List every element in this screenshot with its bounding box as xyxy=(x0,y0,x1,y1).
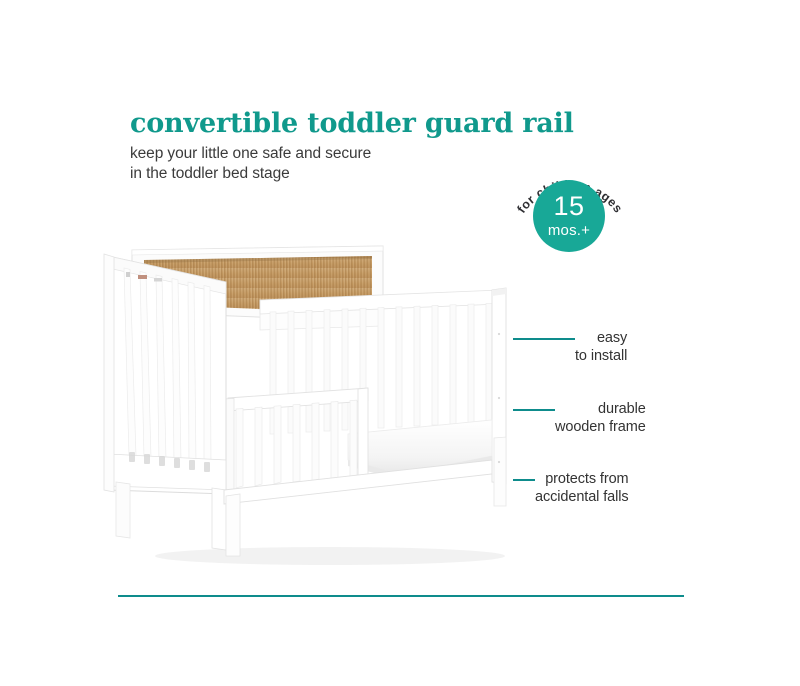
page-subtitle: keep your little one safe and secure in … xyxy=(130,144,371,184)
crib-front-center-leg xyxy=(226,494,240,556)
age-badge-circle: 15 mos.+ xyxy=(533,180,605,252)
feature-callout-easy-to-install: easy to install xyxy=(513,329,627,365)
callout-line-1: protects from xyxy=(535,470,629,488)
feature-callout-protects-from-falls: protects from accidental falls xyxy=(513,470,629,506)
feature-callout-durable-wooden-frame: durable wooden frame xyxy=(513,400,646,436)
crib-right-end-panel xyxy=(492,288,506,506)
callout-leader-line xyxy=(513,479,535,481)
crib-left-end-panel xyxy=(104,254,226,550)
product-marketing-image: convertible toddler guard rail keep your… xyxy=(0,0,800,686)
page-title: convertible toddler guard rail xyxy=(130,108,574,139)
callout-line-2: accidental falls xyxy=(535,488,629,506)
callout-line-1: easy xyxy=(575,329,627,347)
callout-text: durable wooden frame xyxy=(555,400,646,436)
crib-ground-shadow xyxy=(155,547,505,565)
callout-line-1: durable xyxy=(555,400,646,418)
bottom-divider xyxy=(118,595,684,597)
callout-line-2: wooden frame xyxy=(555,418,646,436)
callout-text: protects from accidental falls xyxy=(535,470,629,506)
callout-leader-line xyxy=(513,409,555,411)
product-illustration-crib xyxy=(100,238,540,578)
crib-drawing xyxy=(100,238,540,578)
page-subtitle-line-2: in the toddler bed stage xyxy=(130,164,371,184)
age-badge-unit: mos.+ xyxy=(548,223,590,238)
page-subtitle-line-1: keep your little one safe and secure xyxy=(130,144,371,164)
age-badge-number: 15 xyxy=(553,193,584,220)
callout-leader-line xyxy=(513,338,575,340)
callout-text: easy to install xyxy=(575,329,627,365)
guard-rail-slats xyxy=(236,400,357,488)
callout-line-2: to install xyxy=(575,347,627,365)
